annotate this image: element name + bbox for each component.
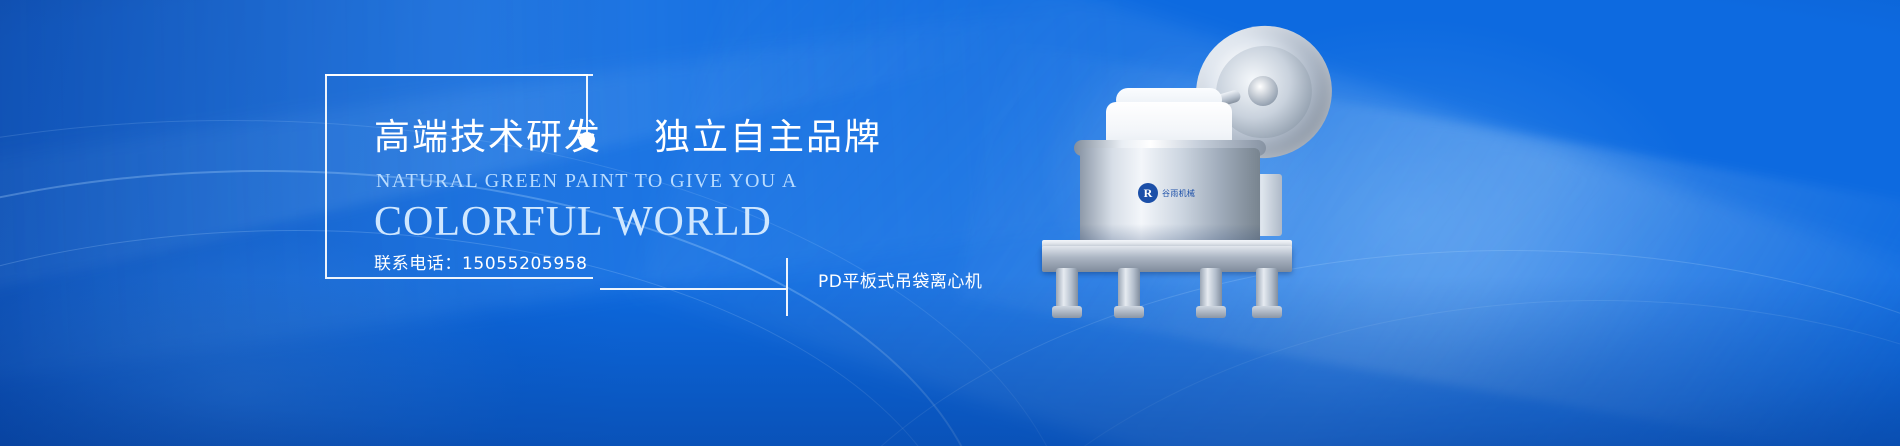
product-logo-mark: R bbox=[1138, 183, 1158, 203]
product-logo-word: 谷雨机械 bbox=[1162, 189, 1195, 198]
caption-tick bbox=[786, 258, 788, 316]
centrifuge-lid-hub bbox=[1248, 76, 1278, 106]
background-bottom-shade bbox=[0, 276, 1900, 446]
contact-phone: 联系电话：15055205958 bbox=[374, 249, 588, 274]
decor-frame-top-rule bbox=[325, 74, 588, 76]
machine-foot bbox=[1256, 268, 1278, 310]
hero-banner: 高端技术研发 独立自主品牌 NATURAL GREEN PAINT TO GIV… bbox=[0, 0, 1900, 446]
machine-foot bbox=[1118, 268, 1140, 310]
product-logo: R 谷雨机械 bbox=[1138, 182, 1204, 204]
machine-foot bbox=[1056, 268, 1078, 310]
base-plate bbox=[1042, 246, 1292, 272]
caption-rule bbox=[600, 288, 786, 290]
machine-foot bbox=[1200, 268, 1222, 310]
headline-right: 独立自主品牌 bbox=[654, 116, 882, 160]
machine-foot-pad bbox=[1052, 306, 1082, 318]
headline-left: 高端技术研发 bbox=[374, 116, 602, 160]
machine-foot-pad bbox=[1252, 306, 1282, 318]
product-caption: PD平板式吊袋离心机 bbox=[818, 267, 982, 292]
machine-foot-pad bbox=[1196, 306, 1226, 318]
tagline: COLORFUL WORLD bbox=[374, 198, 772, 246]
headline: 高端技术研发 独立自主品牌 bbox=[374, 116, 882, 160]
subtitle: NATURAL GREEN PAINT TO GIVE YOU A bbox=[376, 170, 798, 193]
product-image-centrifuge: R 谷雨机械 bbox=[1020, 10, 1350, 340]
machine-foot-pad bbox=[1114, 306, 1144, 318]
